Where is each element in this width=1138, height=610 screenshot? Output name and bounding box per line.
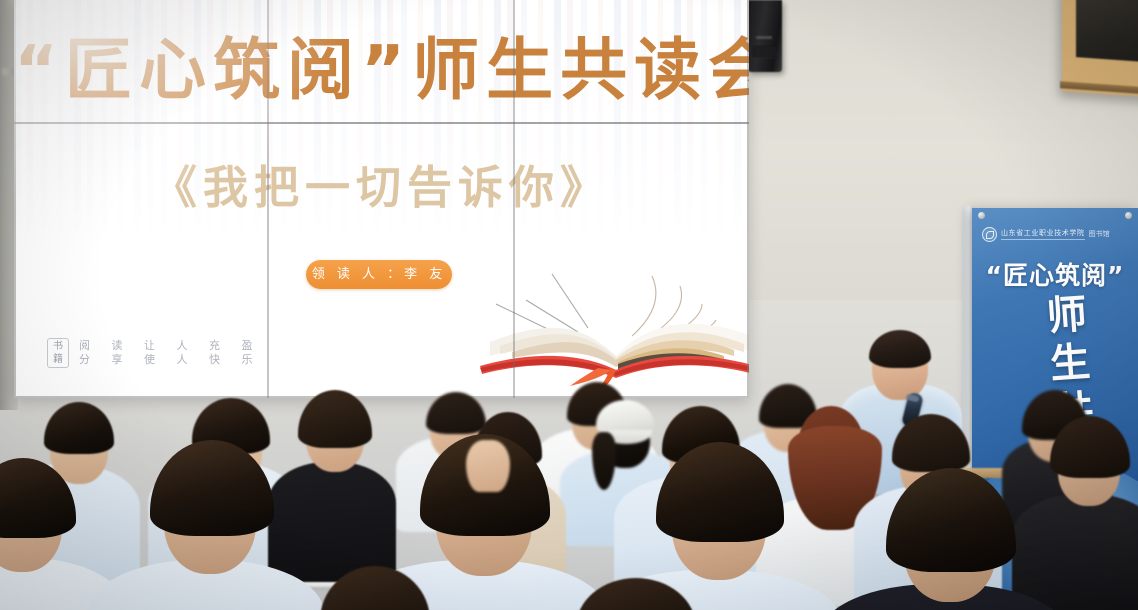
videowall-seam-horizontal bbox=[14, 122, 749, 124]
speaker-badge bbox=[756, 36, 772, 39]
banner-university-name: 山东省工业职业技术学院 bbox=[1001, 228, 1085, 240]
reader-badge: 领 读 人 ：李 友 bbox=[306, 260, 452, 289]
screen-subtitle: 《我把一切告诉你》 bbox=[14, 151, 749, 216]
wood-panel-screen bbox=[1076, 0, 1138, 65]
wall-speaker-icon bbox=[748, 0, 782, 72]
screen-title: “匠心筑阅”师生共读会 bbox=[14, 16, 749, 113]
banner-department-name: 图书馆 bbox=[1089, 229, 1110, 239]
photo-stage: “匠心筑阅”师生共读会 《我把一切告诉你》 领 读 人 ：李 友 bbox=[0, 0, 1138, 610]
speaker-grille bbox=[752, 46, 776, 58]
banner-title: “匠心筑阅” bbox=[972, 256, 1138, 292]
banner-hook-right bbox=[1125, 212, 1132, 219]
university-logo-icon bbox=[982, 227, 997, 242]
banner-hook-left bbox=[978, 212, 985, 219]
banner-logo-row: 山东省工业职业技术学院 图书馆 bbox=[982, 226, 1128, 242]
